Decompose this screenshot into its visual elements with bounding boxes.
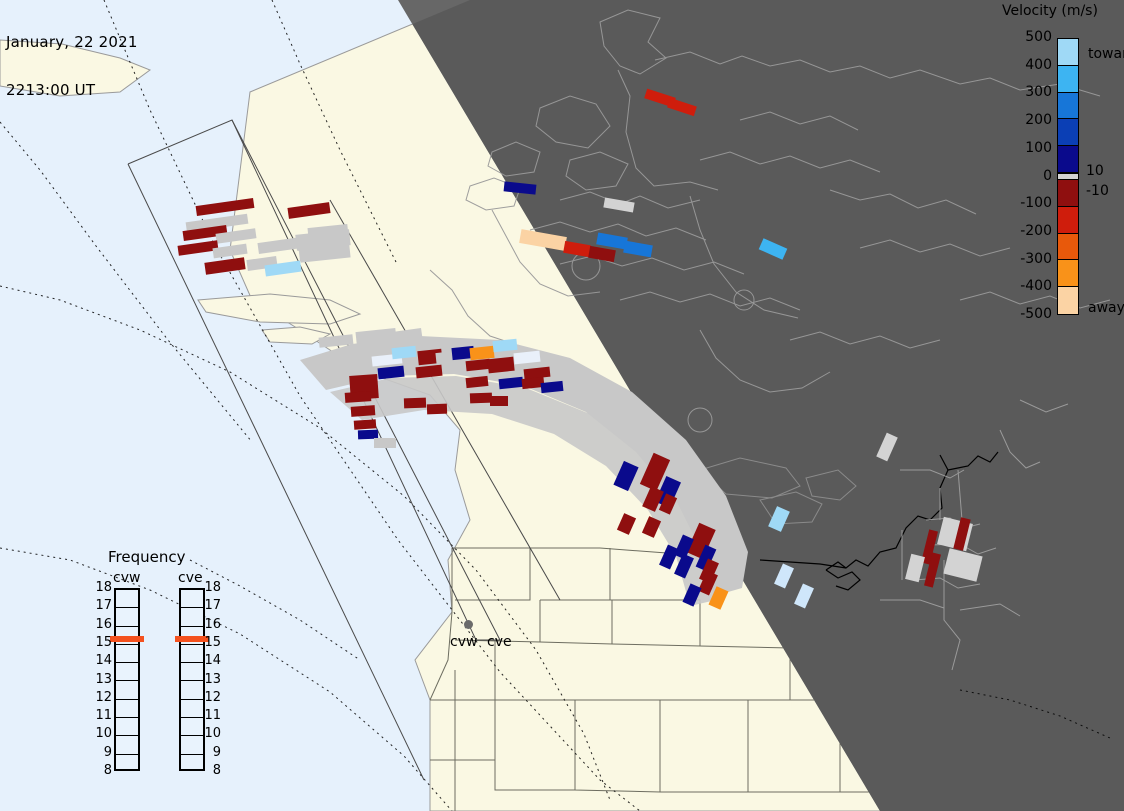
frequency-marker-cvw bbox=[110, 636, 144, 642]
frequency-tick-cve-8: 8 bbox=[199, 763, 221, 778]
frequency-cell bbox=[116, 645, 138, 663]
station-dot-marker bbox=[464, 620, 473, 629]
colorbar-band-450 bbox=[1058, 39, 1078, 66]
frequency-radar-label-cvw: cvw bbox=[113, 570, 140, 586]
radar-velocity-map: January, 22 2021 2213:00 UT Velocity (m/… bbox=[0, 0, 1124, 811]
frequency-cell bbox=[116, 755, 138, 773]
colorbar-inner-high-label: 10 bbox=[1086, 163, 1104, 179]
colorbar-band--350 bbox=[1058, 260, 1078, 287]
frequency-cell bbox=[116, 590, 138, 608]
colorbar-tick--200: -200 bbox=[1000, 223, 1052, 239]
frequency-tick-cve-18: 18 bbox=[199, 580, 221, 595]
frequency-tick-cve-12: 12 bbox=[199, 690, 221, 705]
frequency-tick-cvw-8: 8 bbox=[90, 763, 112, 778]
colorbar-tick--500: -500 bbox=[1000, 306, 1052, 322]
frequency-tick-cvw-17: 17 bbox=[90, 598, 112, 613]
colorbar-inner-low-label: -10 bbox=[1086, 183, 1109, 199]
colorbar-tick-200: 200 bbox=[1000, 112, 1052, 128]
colorbar-tick--400: -400 bbox=[1000, 278, 1052, 294]
time-label: 2213:00 UT bbox=[6, 82, 138, 98]
colorbar-band-0 bbox=[1058, 173, 1078, 180]
frequency-tick-cve-11: 11 bbox=[199, 708, 221, 723]
colorbar-band--450 bbox=[1058, 287, 1078, 314]
frequency-tick-cvw-10: 10 bbox=[90, 726, 112, 741]
frequency-tick-cvw-15: 15 bbox=[90, 635, 112, 650]
frequency-tick-cvw-18: 18 bbox=[90, 580, 112, 595]
frequency-tick-cve-16: 16 bbox=[199, 617, 221, 632]
frequency-cell bbox=[116, 663, 138, 681]
colorbar-band-50 bbox=[1058, 146, 1078, 173]
station-label-cvw: cvw bbox=[450, 634, 477, 650]
frequency-tick-cve-14: 14 bbox=[199, 653, 221, 668]
velocity-colorbar bbox=[1057, 38, 1079, 315]
frequency-bar-cvw[interactable] bbox=[114, 588, 140, 771]
frequency-cell bbox=[116, 718, 138, 736]
frequency-tick-cvw-9: 9 bbox=[90, 745, 112, 760]
frequency-tick-cvw-11: 11 bbox=[90, 708, 112, 723]
frequency-cell bbox=[116, 681, 138, 699]
colorbar-tick-500: 500 bbox=[1000, 29, 1052, 45]
frequency-tick-cvw-13: 13 bbox=[90, 672, 112, 687]
colorbar-toward-label: toward bbox=[1088, 46, 1124, 62]
station-label-cve: cve bbox=[487, 634, 512, 650]
date-label: January, 22 2021 bbox=[6, 34, 138, 50]
frequency-tick-cve-15: 15 bbox=[199, 635, 221, 650]
frequency-cell bbox=[116, 608, 138, 626]
colorbar-band--150 bbox=[1058, 207, 1078, 234]
frequency-legend-title: Frequency bbox=[108, 548, 186, 566]
colorbar-tick-300: 300 bbox=[1000, 84, 1052, 100]
colorbar-band-350 bbox=[1058, 66, 1078, 93]
timestamp-block: January, 22 2021 2213:00 UT bbox=[6, 2, 138, 130]
colorbar-band--50 bbox=[1058, 180, 1078, 207]
colorbar-band-250 bbox=[1058, 93, 1078, 120]
colorbar-tick-0: 0 bbox=[1000, 168, 1052, 184]
frequency-tick-cve-9: 9 bbox=[199, 745, 221, 760]
frequency-tick-cvw-14: 14 bbox=[90, 653, 112, 668]
colorbar-tick-400: 400 bbox=[1000, 57, 1052, 73]
colorbar-band--250 bbox=[1058, 234, 1078, 261]
map-base bbox=[0, 0, 1124, 811]
colorbar-tick-100: 100 bbox=[1000, 140, 1052, 156]
frequency-tick-cvw-12: 12 bbox=[90, 690, 112, 705]
frequency-cell bbox=[116, 736, 138, 754]
frequency-tick-cvw-16: 16 bbox=[90, 617, 112, 632]
colorbar-away-label: away bbox=[1088, 300, 1124, 316]
colorbar-tick--100: -100 bbox=[1000, 195, 1052, 211]
frequency-tick-cve-10: 10 bbox=[199, 726, 221, 741]
frequency-tick-cve-13: 13 bbox=[199, 672, 221, 687]
colorbar-tick--300: -300 bbox=[1000, 251, 1052, 267]
frequency-tick-cve-17: 17 bbox=[199, 598, 221, 613]
colorbar-band-150 bbox=[1058, 119, 1078, 146]
colorbar-title: Velocity (m/s) bbox=[1002, 3, 1098, 19]
frequency-cell bbox=[116, 700, 138, 718]
